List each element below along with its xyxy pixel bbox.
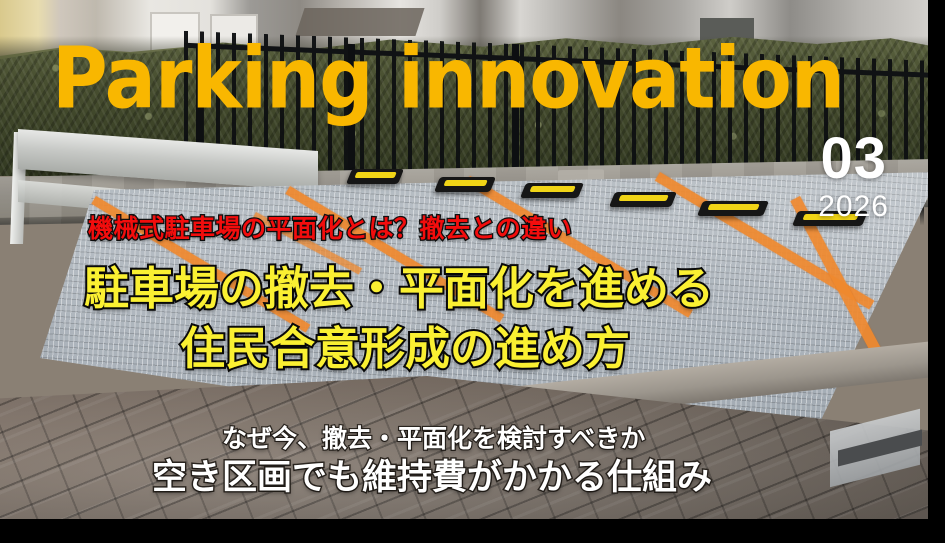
wheel-stop (609, 192, 677, 207)
footer-line-2: 空き区画でも維持費がかかる仕組み (152, 449, 712, 500)
kicker-text: 機械式駐車場の平面化とは？撤去との違い (88, 209, 572, 245)
headline-line-2: 住民合意形成の進め方 (180, 312, 630, 377)
letterbox-bar-bottom (0, 519, 945, 543)
letterbox-bar-right (928, 0, 945, 519)
issue-number: 03 (820, 130, 887, 188)
brand-title: Parking innovation (52, 36, 844, 121)
issue-year: 2026 (818, 192, 889, 222)
video-thumbnail: Parking innovation 03 2026 機械式駐車場の平面化とは？… (0, 0, 945, 543)
wheel-stop (434, 177, 496, 192)
wheel-stop (520, 183, 584, 198)
wheel-stop (346, 169, 404, 184)
wheel-stop (697, 201, 769, 216)
headline-line-1: 駐車場の撤去・平面化を進める (84, 252, 714, 317)
